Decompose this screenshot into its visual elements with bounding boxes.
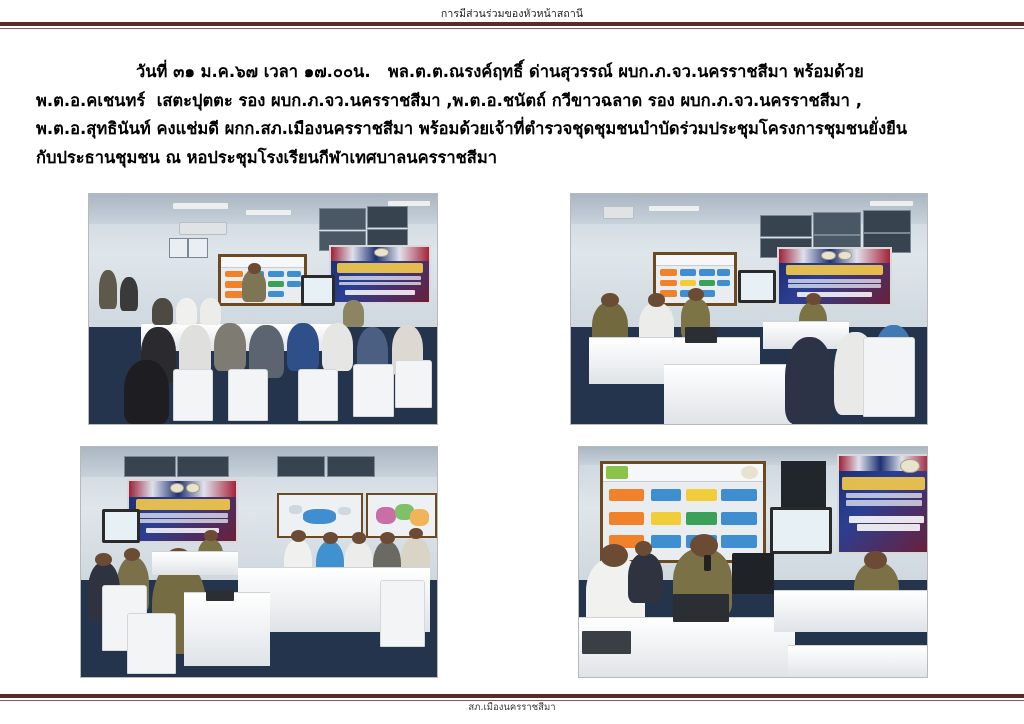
laptop (673, 594, 729, 622)
map-shape (303, 509, 336, 523)
operations-banner (127, 479, 238, 543)
chart-cell (268, 271, 285, 277)
laptop (685, 327, 717, 343)
map-shape (338, 507, 351, 515)
banner-subtitle-block (138, 513, 228, 517)
photo-1-scene (89, 194, 437, 424)
officer-head (688, 288, 704, 300)
plastic-chair (127, 613, 175, 675)
body-line-1: วันที่ ๓๑ ม.ค.๖๗ เวลา ๑๗.๐๐น. พล.ต.ต.ณรง… (36, 58, 988, 87)
royal-seal (186, 483, 200, 493)
body-line-2: พ.ต.อ.คเชนทร์ เสตะปุตตะ รอง ผบก.ภ.จว.นคร… (36, 87, 988, 116)
window-panel (327, 456, 375, 476)
conference-table (184, 592, 269, 667)
body-text: วันที่ ๓๑ ม.ค.๖๗ เวลา ๑๗.๐๐น. พล.ต.ต.ณรง… (36, 58, 988, 172)
conference-table (664, 364, 792, 425)
window-panel (124, 456, 176, 476)
photo-4-scene (579, 447, 927, 677)
chart-cell (686, 512, 716, 525)
photo-1 (88, 193, 438, 425)
chart-cell (660, 280, 677, 287)
attendee (785, 337, 835, 424)
banner-subtitle-block (788, 279, 881, 283)
window-panel (367, 206, 407, 229)
plastic-chair (298, 369, 338, 422)
air-conditioner (603, 206, 633, 220)
doorway (781, 461, 826, 507)
footer-rule-thin (0, 700, 1024, 702)
chart-cell (651, 512, 681, 525)
chart-cell (660, 269, 677, 276)
microphone (704, 555, 711, 571)
officer-head (806, 293, 821, 305)
photo-2 (570, 193, 928, 425)
chart-cell (225, 271, 243, 278)
chart-cell (717, 269, 730, 276)
chart-cell (721, 535, 756, 548)
conference-table (788, 645, 927, 678)
community-leader-head (291, 530, 306, 542)
presenter-head (248, 263, 261, 274)
board-header (656, 255, 734, 267)
monitor (732, 553, 774, 594)
community-leader-head (323, 532, 338, 544)
chart-cell (268, 281, 285, 287)
photo-grid (0, 190, 1024, 690)
attendee (343, 300, 364, 328)
projector-screen (738, 270, 776, 304)
banner-title-block (842, 477, 925, 490)
plastic-chair (395, 360, 432, 408)
ceiling-light (870, 201, 913, 206)
conference-table (774, 590, 927, 632)
operations-banner (837, 454, 928, 555)
header-rule-thin (0, 28, 1024, 30)
window-panel (177, 456, 229, 476)
conference-table (152, 551, 237, 575)
window-panel (813, 212, 861, 235)
operations-banner (329, 245, 430, 304)
chart-cell (609, 512, 644, 525)
audience-member (287, 323, 318, 371)
projector-screen (102, 509, 140, 543)
window-panel (319, 208, 366, 231)
projector-screen (770, 507, 832, 554)
photo-3-scene (81, 447, 437, 677)
footer-rule (0, 694, 1024, 701)
chart-cell (287, 271, 301, 277)
attendee-head (635, 541, 652, 556)
laptop (582, 631, 631, 654)
banner-subtitle-block (846, 493, 922, 499)
royal-seal (821, 251, 835, 261)
photo-4 (578, 446, 928, 678)
banner-subtitle-block (857, 524, 920, 531)
attendee (176, 298, 197, 326)
officer-head (864, 551, 886, 569)
window-panel (188, 238, 207, 258)
banner-subtitle-block (339, 276, 421, 280)
chart-cell (651, 535, 681, 548)
banner-subtitle-block (138, 519, 228, 523)
chart-cell (717, 280, 730, 287)
chart-cell (268, 291, 285, 297)
plastic-chair (228, 369, 268, 422)
attendee (152, 298, 173, 326)
audience-member (322, 323, 353, 371)
map-region (376, 507, 396, 524)
attendee-head (600, 544, 628, 567)
plastic-chair (353, 364, 393, 417)
chart-cell (287, 281, 301, 287)
chart-cell (686, 489, 716, 502)
operations-banner (777, 247, 891, 306)
chart-cell (609, 489, 644, 502)
ceiling-light (173, 203, 229, 209)
attendee (628, 553, 663, 604)
document-page: การมีส่วนร่วมของหัวหน้าสถานี วันที่ ๓๑ ม… (0, 0, 1024, 724)
footer-text: สภ.เมืองนครราชสีมา (0, 702, 1024, 713)
chart-cell (699, 280, 715, 287)
banner-subtitle-block (345, 290, 415, 295)
map-region (410, 509, 429, 526)
officer-head (204, 530, 218, 541)
chart-cell (651, 489, 681, 502)
banner-subtitle-block (846, 500, 922, 506)
tablet-device (206, 590, 234, 602)
banner-subtitle-block (788, 284, 881, 287)
wall-map-diagram (277, 493, 363, 538)
ceiling-light (246, 210, 291, 215)
header-rule (0, 22, 1024, 29)
wall-map-area (366, 493, 438, 538)
chart-cell (721, 512, 756, 525)
page-header: การมีส่วนร่วมของหัวหน้าสถานี (0, 0, 1024, 21)
photo-2-scene (571, 194, 927, 424)
chart-cell (225, 281, 243, 288)
board-logo (606, 466, 628, 480)
attendee-head (95, 553, 111, 566)
chart-cell (680, 280, 696, 287)
plastic-chair (863, 337, 915, 417)
ceiling-light (649, 206, 699, 212)
chart-cell (721, 489, 756, 502)
window-panel (863, 210, 911, 233)
body-line-4: กับประธานชุมชน ณ หอประชุมโรงเรียนกีฬาเทศ… (36, 144, 988, 173)
air-conditioner (179, 222, 226, 236)
officer (99, 270, 116, 309)
banner-subtitle-block (339, 282, 421, 285)
plastic-chair (173, 369, 213, 422)
plastic-chair (380, 580, 425, 646)
header-title: การมีส่วนร่วมของหัวหน้าสถานี (0, 0, 1024, 21)
window-panel (760, 215, 812, 238)
projector-screen (301, 275, 335, 306)
officer-head (648, 293, 666, 307)
royal-seal (170, 483, 184, 493)
officer-head (124, 548, 140, 561)
photo-3 (80, 446, 438, 678)
community-leader-head (380, 532, 395, 544)
banner-title-block (136, 499, 230, 510)
body-line-3: พ.ต.อ.สุทธินันท์ คงแช่มดี ผกก.สภ.เมืองนค… (36, 115, 988, 144)
banner-title-block (786, 265, 883, 275)
map-shape (289, 505, 302, 513)
chart-cell (680, 269, 696, 276)
window-panel (169, 238, 188, 258)
board-header (221, 257, 305, 268)
window-panel (277, 456, 325, 476)
chart-cell (699, 269, 715, 276)
banner-subtitle-block (849, 516, 923, 523)
presenter (242, 270, 266, 302)
attendee (200, 298, 221, 326)
banner-title-block (337, 263, 423, 273)
officer-head (601, 293, 619, 307)
officer (120, 277, 137, 312)
chart-cell (225, 291, 243, 298)
audience-member (214, 323, 245, 371)
audience-member (124, 360, 169, 424)
